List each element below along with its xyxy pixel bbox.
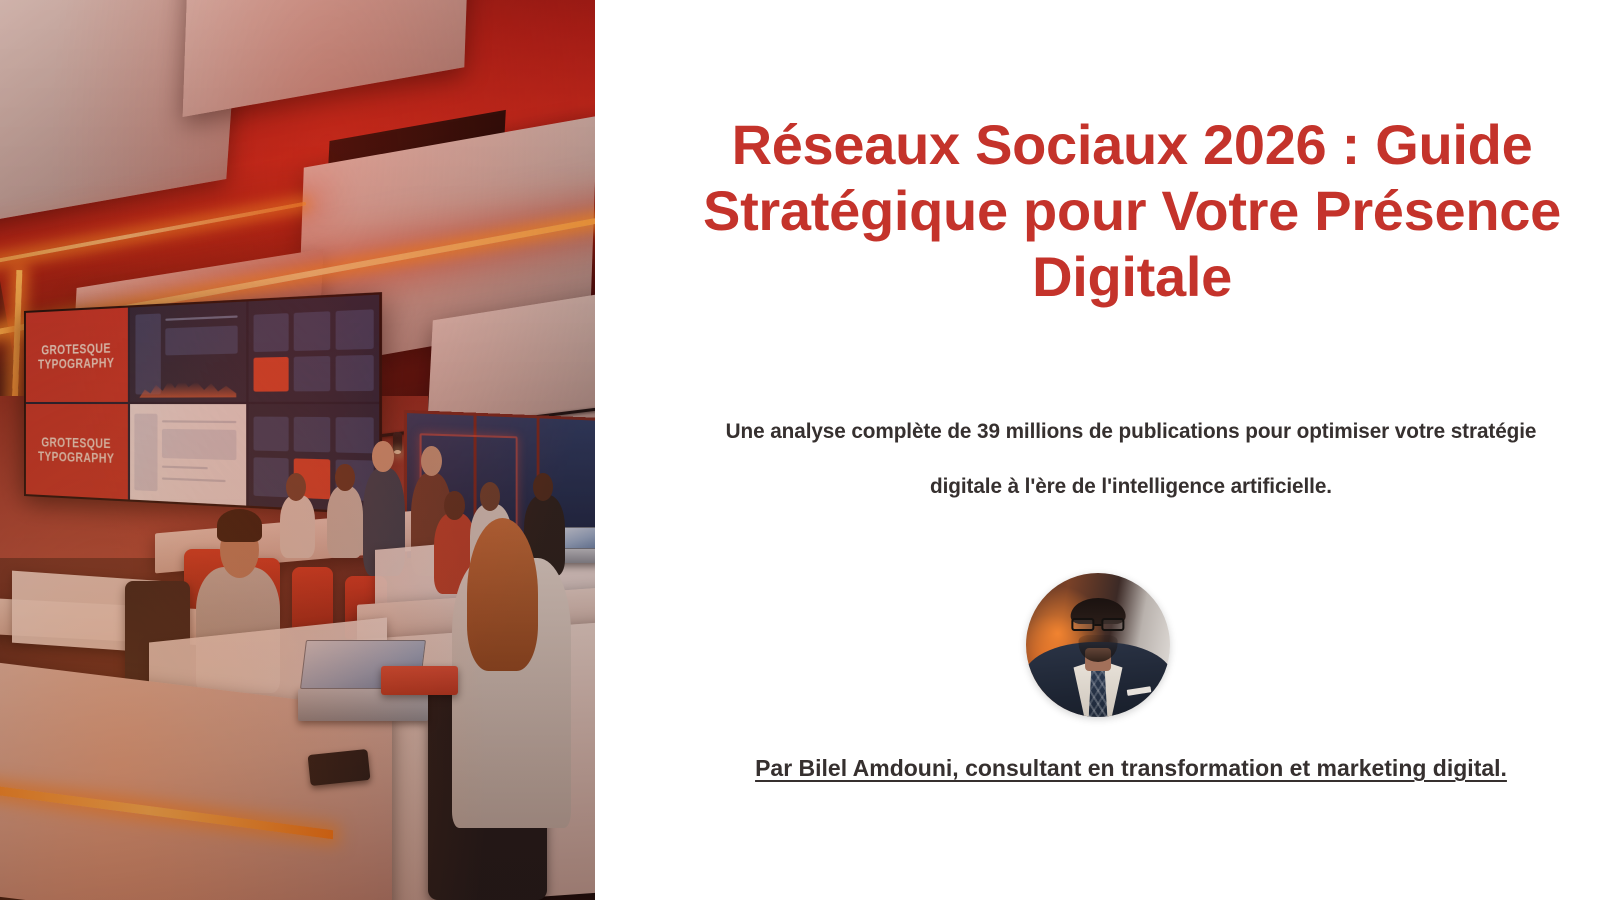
- person-head: [335, 464, 355, 492]
- title-slide: GROTESQUE TYPOGRAPHY: [0, 0, 1600, 900]
- person-head: [444, 491, 465, 521]
- video-wall-panel-text: GROTESQUE TYPOGRAPHY: [38, 340, 114, 370]
- video-wall-panel-text: GROTESQUE TYPOGRAPHY: [38, 435, 114, 465]
- content-panel: Réseaux Sociaux 2026 : Guide Stratégique…: [595, 0, 1600, 900]
- avatar: [1026, 573, 1170, 717]
- person-head: [372, 441, 393, 472]
- author-byline: Par Bilel Amdouni, consultant en transfo…: [695, 752, 1567, 784]
- video-wall-screen: [130, 301, 246, 402]
- person-head: [286, 473, 306, 502]
- hero-photo: GROTESQUE TYPOGRAPHY: [0, 0, 595, 900]
- avatar-tie: [1089, 664, 1108, 717]
- video-wall-text-line2: TYPOGRAPHY: [38, 354, 114, 371]
- video-wall-text-line2: TYPOGRAPHY: [38, 448, 114, 466]
- person-hair: [467, 518, 538, 671]
- video-wall-screen: [248, 294, 379, 402]
- chair: [292, 567, 334, 630]
- smartphone: [308, 748, 370, 785]
- video-wall-screen: GROTESQUE TYPOGRAPHY: [26, 307, 128, 402]
- notebook: [381, 666, 458, 695]
- person-head: [421, 446, 442, 477]
- video-wall-screen: [130, 404, 246, 505]
- person: [280, 495, 316, 558]
- glasses-icon: [1071, 618, 1124, 631]
- author-avatar: [1026, 573, 1170, 717]
- page-title: Réseaux Sociaux 2026 : Guide Stratégique…: [697, 112, 1567, 310]
- spotlight-icon: [393, 432, 402, 452]
- video-wall-screen: GROTESQUE TYPOGRAPHY: [26, 404, 128, 499]
- person: [327, 486, 363, 558]
- video-wall-screen: [248, 404, 379, 512]
- person-hair: [217, 509, 262, 541]
- office-scene-illustration: GROTESQUE TYPOGRAPHY: [0, 0, 595, 900]
- subtitle-text: Une analyse complète de 39 millions de p…: [710, 404, 1551, 514]
- video-wall: GROTESQUE TYPOGRAPHY: [24, 292, 383, 514]
